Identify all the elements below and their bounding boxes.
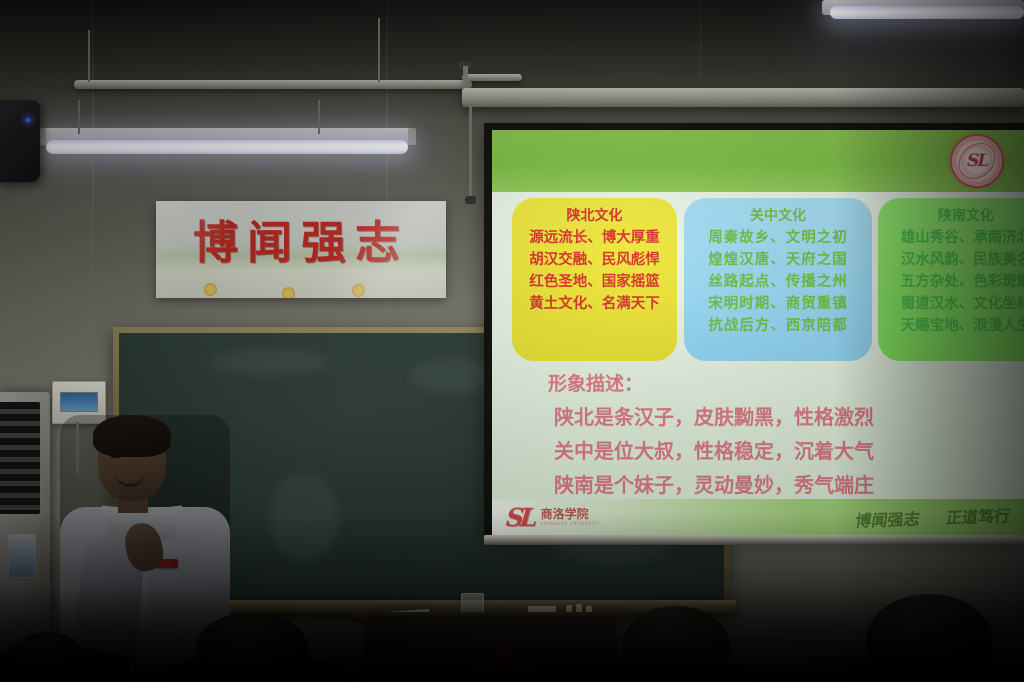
floor-shadow — [0, 512, 1024, 682]
ceiling-conduit — [462, 74, 522, 81]
wall-banner: 博闻强志 — [156, 201, 446, 298]
screen-pull-knob[interactable] — [465, 196, 476, 204]
light-hanger — [78, 100, 80, 134]
screen-pull-cord[interactable] — [469, 106, 472, 198]
culture-box-line: 胡汉交融、民风彪悍 — [516, 249, 673, 271]
light-hanger — [318, 100, 320, 134]
wall-speaker — [0, 100, 40, 182]
culture-box-line: 黄土文化、名满天下 — [516, 293, 673, 315]
wall-banner-text: 博闻强志 — [156, 213, 446, 273]
ceiling-fluorescent-left — [46, 140, 408, 154]
screen-mount-bracket — [463, 66, 468, 90]
culture-box-line: 源远流长、博大厚重 — [516, 227, 673, 249]
conduit-hanger — [88, 30, 90, 82]
culture-box-title: 陕北文化 — [516, 206, 673, 226]
speaker-led-icon — [26, 118, 30, 122]
ceiling-conduit — [74, 80, 472, 89]
culture-box-line: 红色圣地、国家摇篮 — [516, 271, 673, 293]
classroom-scene: 博闻强志 SL 陕 — [0, 0, 1024, 682]
control-panel-screen — [60, 392, 98, 412]
culture-box-shaanbei: 陕北文化 源远流长、博大厚重 胡汉交融、民风彪悍 红色圣地、国家摇篮 黄土文化、… — [512, 198, 677, 361]
conduit-hanger — [378, 18, 380, 82]
